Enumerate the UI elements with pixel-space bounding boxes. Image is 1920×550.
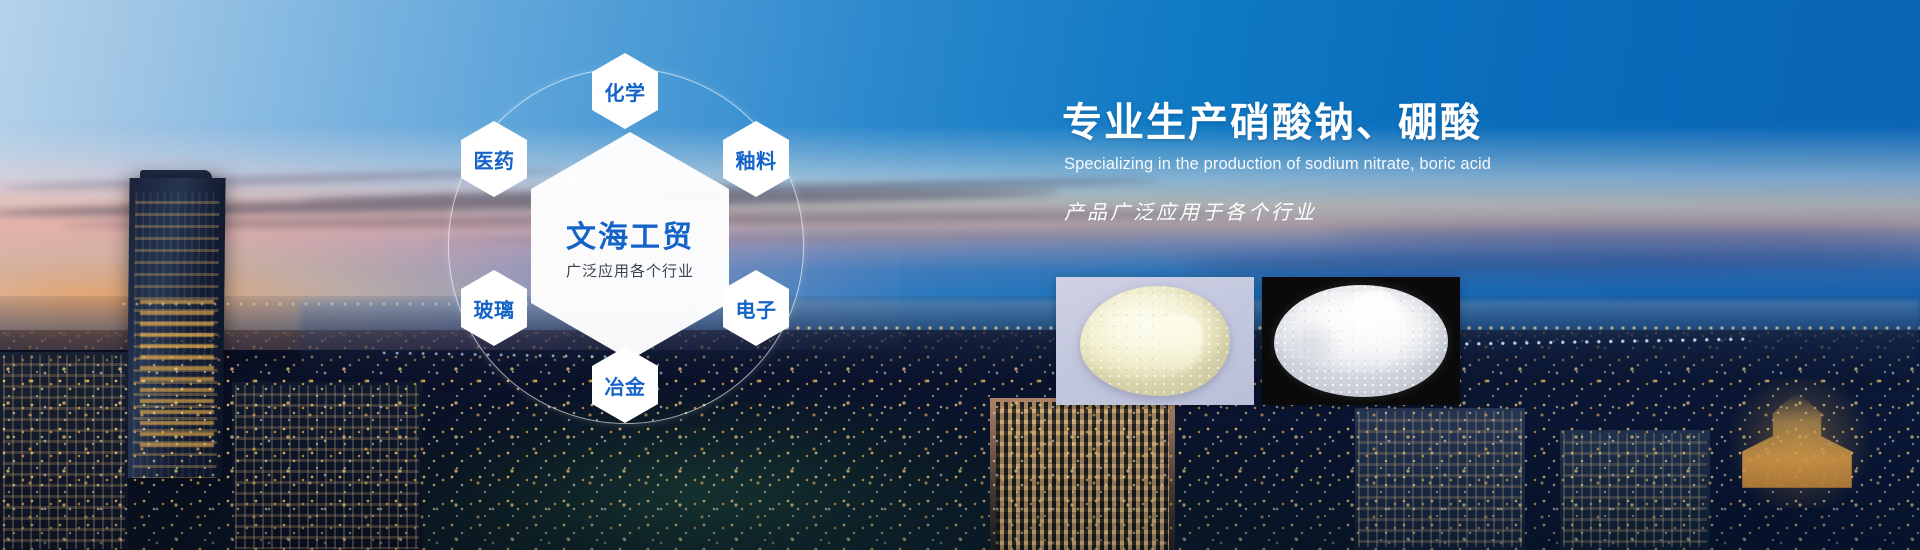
- hex-node-label: 釉料: [736, 145, 777, 174]
- background-cityscape-image: [0, 0, 1920, 550]
- hex-node-label: 化学: [605, 77, 646, 106]
- product-photo-boric-acid[interactable]: [1262, 277, 1460, 405]
- main-headline: 专业生产硝酸钠、硼酸: [1062, 100, 1762, 147]
- secondary-tagline: 产品广泛应用于各个行业: [1064, 196, 1762, 225]
- hex-node-label: 玻璃: [474, 294, 515, 323]
- industry-hexagon-diagram: 化学 釉料 电子 冶金 玻璃 医药 文海工贸 广泛应用各个行业: [420, 20, 840, 480]
- hex-node-label: 冶金: [605, 371, 646, 400]
- company-tagline: 广泛应用各个行业: [566, 260, 694, 281]
- blue-color-tint: [0, 0, 1920, 550]
- hex-node-label: 电子: [736, 294, 777, 323]
- hex-node-label: 医药: [474, 145, 515, 174]
- powder-shadow: [1278, 321, 1345, 372]
- product-photo-sodium-nitrate[interactable]: [1056, 277, 1254, 405]
- powder-highlight: [1345, 290, 1404, 367]
- company-name: 文海工贸: [566, 212, 694, 256]
- headline-copy-block: 专业生产硝酸钠、硼酸 Specializing in the productio…: [1062, 100, 1762, 225]
- product-photo-row: [1056, 277, 1460, 405]
- promo-banner: 化学 釉料 电子 冶金 玻璃 医药 文海工贸 广泛应用各个行业 专业生产硝酸钠、…: [0, 0, 1920, 550]
- english-subheadline: Specializing in the production of sodium…: [1064, 155, 1762, 174]
